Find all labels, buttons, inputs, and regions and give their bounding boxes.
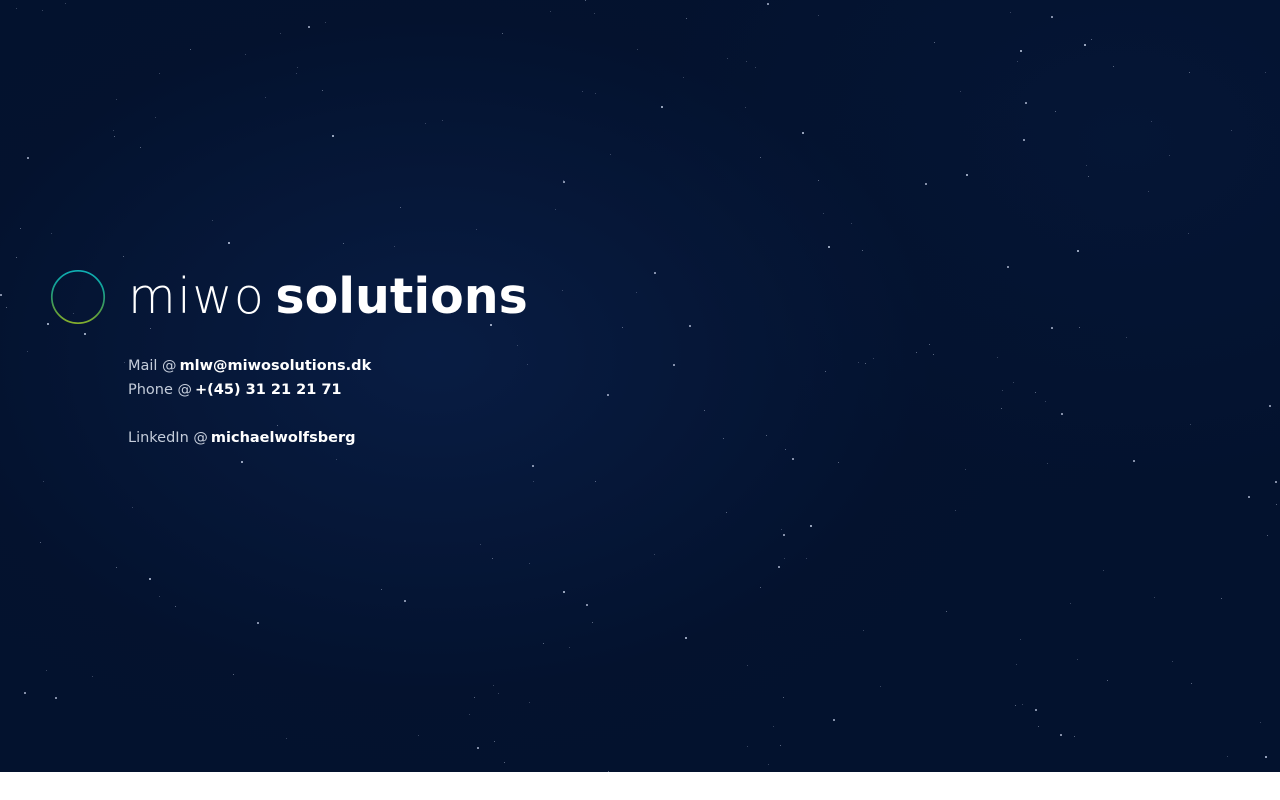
contact-label-phone: Phone @ bbox=[128, 382, 192, 398]
contact-details: Mail @mlw@miwosolutions.dk Phone @+(45) … bbox=[128, 354, 371, 450]
hero-section: miwosolutions Mail @mlw@miwosolutions.dk… bbox=[0, 0, 1280, 772]
page-footer-strip bbox=[0, 772, 1280, 800]
logo-wordmark: miwosolutions bbox=[128, 272, 528, 322]
logo-word-solutions: solutions bbox=[275, 268, 527, 325]
contact-row-linkedin: LinkedIn @michaelwolfsberg bbox=[128, 426, 371, 450]
contact-label-mail: Mail @ bbox=[128, 358, 177, 374]
contact-row-mail: Mail @mlw@miwosolutions.dk bbox=[128, 354, 371, 378]
contact-row-phone: Phone @+(45) 31 21 21 71 bbox=[128, 378, 371, 402]
contact-label-linkedin: LinkedIn @ bbox=[128, 430, 208, 446]
contact-value-phone[interactable]: +(45) 31 21 21 71 bbox=[195, 382, 342, 398]
logo-word-miwo: miwo bbox=[128, 268, 265, 325]
site-logo[interactable]: miwosolutions bbox=[50, 266, 528, 328]
contact-value-linkedin[interactable]: michaelwolfsberg bbox=[211, 430, 356, 446]
circle-gradient-icon bbox=[50, 266, 106, 328]
contact-value-mail[interactable]: mlw@miwosolutions.dk bbox=[180, 358, 372, 374]
